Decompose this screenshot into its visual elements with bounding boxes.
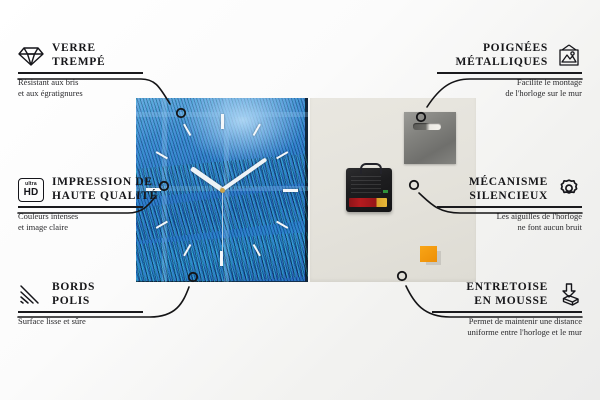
callout-header: ultra HD IMPRESSION DE HAUTE QUALITÉ (18, 176, 178, 203)
polished-edges-icon (18, 284, 44, 306)
callout-title: BORDS POLIS (52, 281, 95, 308)
ultra-hd-icon: ultra HD (18, 178, 44, 202)
callout-description: Permet de maintenir une distance uniform… (397, 316, 582, 338)
callout-title: VERRE TREMPÉ (52, 42, 105, 69)
battery (349, 198, 387, 207)
callout-rule (18, 206, 143, 208)
ultra-hd-icon-top-text: ultra (25, 182, 37, 187)
foam-spacer-icon (556, 283, 582, 307)
callout-rule (18, 72, 143, 74)
gear-icon (556, 178, 582, 202)
movement-green-marker (383, 190, 388, 193)
callout-description: Surface lisse et sûre (18, 316, 158, 327)
callout-rule (18, 311, 143, 313)
callout-poignees-metalliques[interactable]: POIGNÉES MÉTALLIQUES Facilite le montage… (402, 42, 582, 99)
callout-rule (437, 206, 582, 208)
callout-header: VERRE TREMPÉ (18, 42, 158, 69)
callout-entretoise-en-mousse[interactable]: ENTRETOISE EN MOUSSE Permet de maintenir… (397, 281, 582, 338)
clock-second-hand (222, 190, 223, 252)
infographic-canvas: VERRE TREMPÉ Résistant aux bris et aux é… (0, 0, 600, 400)
clock-center-pivot (220, 188, 225, 193)
callout-verre-trempe[interactable]: VERRE TREMPÉ Résistant aux bris et aux é… (18, 42, 158, 99)
callout-header: ENTRETOISE EN MOUSSE (397, 281, 582, 308)
callout-header: POIGNÉES MÉTALLIQUES (402, 42, 582, 69)
glass-seam-horizontal-top (136, 112, 308, 117)
callout-description: Facilite le montage de l'horloge sur le … (402, 77, 582, 99)
hanger-keyhole-slot (413, 123, 441, 130)
callout-header: MÉCANISME SILENCIEUX (402, 176, 582, 203)
diamond-icon (18, 45, 44, 67)
callout-mecanisme-silencieux[interactable]: MÉCANISME SILENCIEUX Les aiguilles de l'… (402, 176, 582, 233)
hanging-loop (360, 163, 382, 174)
callout-title: MÉCANISME SILENCIEUX (469, 176, 548, 203)
callout-rule (432, 311, 582, 313)
ultra-hd-icon-main-text: HD (24, 188, 39, 198)
callout-impression-haute-qualite[interactable]: ultra HD IMPRESSION DE HAUTE QUALITÉ Cou… (18, 176, 178, 233)
callout-description: Résistant aux bris et aux égratignures (18, 77, 158, 99)
callout-title: POIGNÉES MÉTALLIQUES (456, 42, 548, 69)
callout-title: ENTRETOISE EN MOUSSE (466, 281, 548, 308)
callout-bords-polis[interactable]: BORDS POLIS Surface lisse et sûre (18, 281, 158, 327)
callout-description: Couleurs intenses et image claire (18, 211, 178, 233)
foam-spacer-pad (420, 246, 437, 262)
callout-rule (437, 72, 582, 74)
metal-hanger-plate (404, 112, 456, 164)
clock-movement-housing (346, 168, 392, 212)
callout-header: BORDS POLIS (18, 281, 158, 308)
callout-description: Les aiguilles de l'horloge ne font aucun… (402, 211, 582, 233)
picture-hanger-icon (556, 44, 582, 68)
movement-label (351, 175, 381, 193)
callout-title: IMPRESSION DE HAUTE QUALITÉ (52, 176, 158, 203)
